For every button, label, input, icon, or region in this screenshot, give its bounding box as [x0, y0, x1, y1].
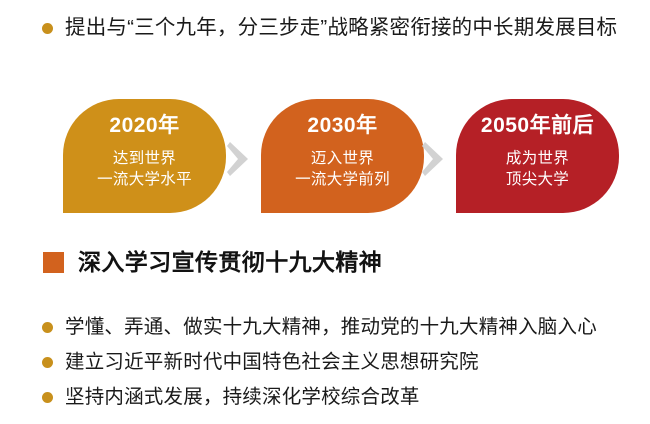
top-statement: 提出与“三个九年，分三步走”战略紧密衔接的中长期发展目标	[42, 18, 617, 39]
list-item: 建立习近平新时代中国特色社会主义思想研究院	[42, 345, 642, 380]
list-item-label: 建立习近平新时代中国特色社会主义思想研究院	[65, 353, 479, 373]
roadmap-card-line2: 一流大学水平	[63, 170, 226, 191]
list-item: 坚持内涵式发展，持续深化学校综合改革	[42, 380, 642, 415]
chevron-right-icon	[227, 142, 249, 176]
section-heading-text: 深入学习宣传贯彻十九大精神	[78, 251, 382, 274]
roadmap-card-2030[interactable]: 2030年 迈入世界 一流大学前列	[261, 99, 424, 213]
bullet-dot-icon	[42, 23, 53, 34]
roadmap-card-year: 2030年	[261, 115, 424, 136]
roadmap-card-year: 2020年	[63, 115, 226, 136]
roadmap-card-line1: 成为世界	[456, 149, 619, 170]
roadmap-card-line1: 达到世界	[63, 149, 226, 170]
list-item: 学懂、弄通、做实十九大精神，推动党的十九大精神入脑入心	[42, 310, 642, 345]
section-bullet-list: 学懂、弄通、做实十九大精神，推动党的十九大精神入脑入心 建立习近平新时代中国特色…	[42, 310, 642, 415]
list-item-label: 坚持内涵式发展，持续深化学校综合改革	[65, 388, 420, 408]
bullet-dot-icon	[42, 392, 53, 403]
roadmap-card-2050[interactable]: 2050年前后 成为世界 顶尖大学	[456, 99, 619, 213]
bullet-dot-icon	[42, 357, 53, 368]
roadmap-card-line2: 顶尖大学	[456, 170, 619, 191]
chevron-right-icon	[422, 142, 444, 176]
roadmap-card-line2: 一流大学前列	[261, 170, 424, 191]
bullet-dot-icon	[42, 322, 53, 333]
section-heading: 深入学习宣传贯彻十九大精神	[43, 251, 382, 274]
roadmap-card-2020[interactable]: 2020年 达到世界 一流大学水平	[63, 99, 226, 213]
list-item-label: 学懂、弄通、做实十九大精神，推动党的十九大精神入脑入心	[65, 318, 597, 338]
top-statement-text: 提出与“三个九年，分三步走”战略紧密衔接的中长期发展目标	[65, 18, 617, 39]
square-marker-icon	[43, 252, 64, 273]
roadmap-timeline: 2020年 达到世界 一流大学水平 2030年 迈入世界 一流大学前列 2050…	[0, 99, 650, 213]
roadmap-card-year: 2050年前后	[456, 115, 619, 136]
roadmap-card-line1: 迈入世界	[261, 149, 424, 170]
